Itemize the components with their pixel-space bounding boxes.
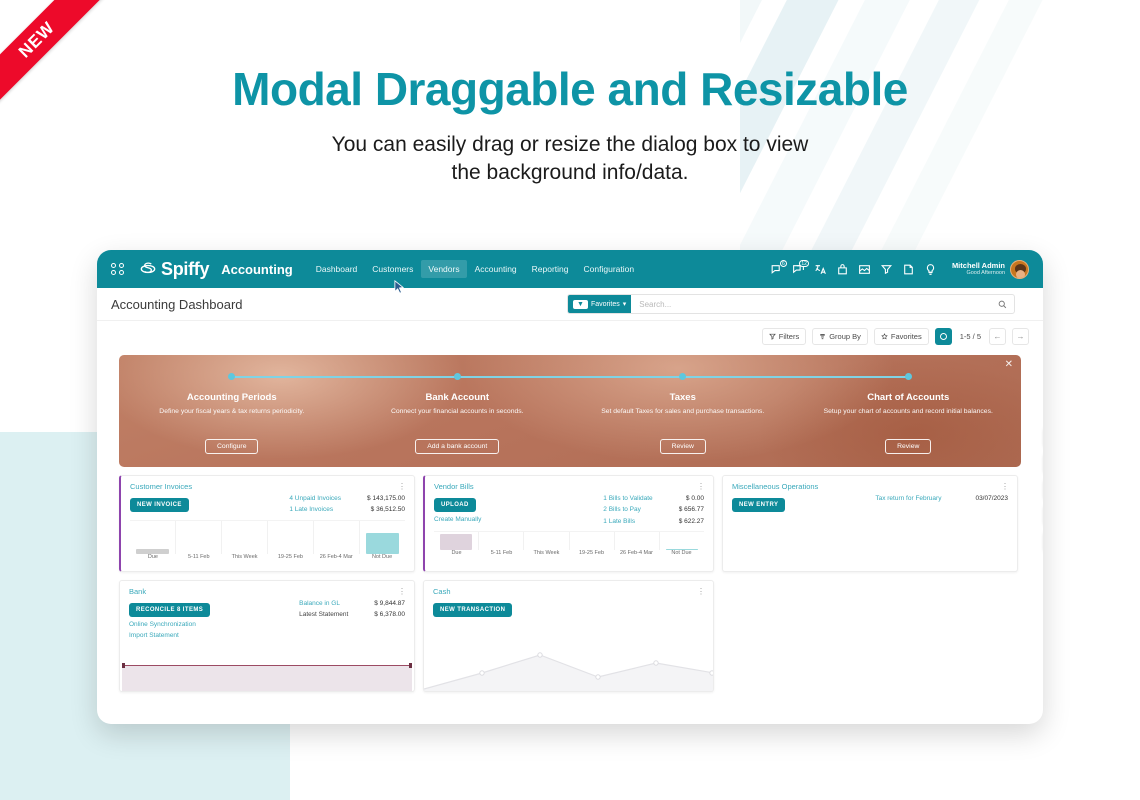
card-body: NEW TRANSACTION xyxy=(424,598,713,621)
axis-tick: Not Due xyxy=(359,554,405,560)
stat-label[interactable]: 4 Unpaid Invoices xyxy=(289,493,341,504)
search-bar[interactable]: ▼ Favorites ▾ Search... xyxy=(567,294,1015,314)
stat-label[interactable]: Tax return for February xyxy=(875,493,941,504)
dashboard-cards-row-1: Customer Invoices ⋮ NEW INVOICE 4 Unpaid… xyxy=(97,467,1043,572)
invoices-aging-chart xyxy=(130,520,405,554)
review-taxes-button[interactable]: Review xyxy=(660,439,706,454)
stat-values: 03/07/2023 xyxy=(975,493,1008,504)
favorites-label: Favorites xyxy=(891,332,922,341)
bills-aging-axis: Due 5-11 Feb This Week 19-25 Feb 26 Feb-… xyxy=(434,550,704,556)
step-dot xyxy=(228,373,235,380)
note-icon[interactable] xyxy=(902,263,915,276)
stat-value: $ 656.77 xyxy=(679,504,704,515)
step-dot xyxy=(905,373,912,380)
apps-grid-icon[interactable] xyxy=(111,263,124,276)
user-name: Mitchell Admin xyxy=(952,262,1005,271)
onboarding-step-bank-account: Bank Account Connect your financial acco… xyxy=(345,373,571,467)
gallery-icon[interactable] xyxy=(858,263,871,276)
spiffy-logo-icon xyxy=(138,259,158,279)
stat-label: Latest Statement xyxy=(299,609,348,620)
stat-labels: Balance in GL Latest Statement xyxy=(299,598,348,621)
kanban-view-icon xyxy=(939,332,948,341)
step-description: Setup your chart of accounts and record … xyxy=(806,407,1012,427)
search-favorites-label: Favorites xyxy=(591,301,620,308)
stat-label[interactable]: 1 Late Invoices xyxy=(289,504,341,515)
stat-values: $ 143,175.00 $ 36,512.50 xyxy=(367,493,405,516)
dashboard-cards-row-2: Bank ⋮ RECONCILE 8 ITEMS Online Synchron… xyxy=(97,572,1043,692)
axis-tick: Due xyxy=(434,550,479,556)
step-title: Bank Account xyxy=(355,392,561,403)
menu-item-vendors[interactable]: Vendors xyxy=(421,260,466,278)
card-vendor-bills: Vendor Bills ⋮ UPLOAD Create Manually 1 … xyxy=(423,475,714,572)
page-subtitle: You can easily drag or resize the dialog… xyxy=(0,131,1140,187)
bills-aging-chart xyxy=(434,531,704,550)
stat-value: $ 6,378.00 xyxy=(374,609,405,620)
subtitle-line-1: You can easily drag or resize the dialog… xyxy=(332,133,809,156)
bank-balance-chart xyxy=(122,665,412,691)
card-header: Bank ⋮ xyxy=(120,581,414,598)
onboarding-step-chart-of-accounts: Chart of Accounts Setup your chart of ac… xyxy=(796,373,1022,467)
stat-value: $ 36,512.50 xyxy=(367,504,405,515)
new-ribbon-label: NEW xyxy=(0,0,108,110)
translate-icon[interactable] xyxy=(814,263,827,276)
card-body: NEW ENTRY Tax return for February 03/07/… xyxy=(723,493,1017,516)
search-favorites-chip[interactable]: ▼ Favorites ▾ xyxy=(568,295,631,313)
step-description: Connect your financial accounts in secon… xyxy=(355,407,561,427)
search-icon[interactable] xyxy=(998,300,1014,309)
card-stats: Tax return for February 03/07/2023 xyxy=(875,493,1008,504)
onboarding-steps: Accounting Periods Define your fiscal ye… xyxy=(119,355,1021,467)
group-by-button[interactable]: Group By xyxy=(812,328,868,345)
conversations-icon[interactable]: 12 xyxy=(792,263,805,276)
stat-labels: 4 Unpaid Invoices 1 Late Invoices xyxy=(289,493,341,516)
onboarding-banner: ✕ Accounting Periods Define your fiscal … xyxy=(119,355,1021,467)
step-connector xyxy=(232,376,458,378)
poster-page: NEW Modal Draggable and Resizable You ca… xyxy=(0,0,1140,800)
shop-icon[interactable] xyxy=(836,263,849,276)
import-statement-link[interactable]: Import Statement xyxy=(129,632,210,639)
kebab-menu-icon[interactable]: ⋮ xyxy=(398,589,406,595)
configure-button[interactable]: Configure xyxy=(205,439,258,454)
menu-item-accounting[interactable]: Accounting xyxy=(468,260,524,278)
online-synchronization-link[interactable]: Online Synchronization xyxy=(129,621,210,628)
step-title: Taxes xyxy=(580,392,786,403)
upload-button[interactable]: UPLOAD xyxy=(434,498,476,512)
page-title: Modal Draggable and Resizable xyxy=(0,62,1140,116)
card-title: Customer Invoices xyxy=(130,482,192,491)
axis-tick: 19-25 Feb xyxy=(569,550,614,556)
view-toolbar: Filters Group By Favorites 1-5 / 5 ← → xyxy=(97,321,1043,351)
stat-label[interactable]: 1 Bills to Validate xyxy=(603,493,652,504)
kebab-menu-icon[interactable]: ⋮ xyxy=(697,484,705,490)
axis-tick: 26 Feb-4 Mar xyxy=(614,550,659,556)
card-header: Cash ⋮ xyxy=(424,581,713,598)
user-greeting: Good Afternoon xyxy=(952,270,1005,276)
app-name: Accounting xyxy=(221,262,293,277)
pager-next-button[interactable]: → xyxy=(1012,328,1029,345)
reconcile-items-button[interactable]: RECONCILE 8 ITEMS xyxy=(129,603,210,617)
main-menu: Dashboard Customers Vendors Accounting R… xyxy=(309,260,641,278)
messages-icon[interactable]: 6 xyxy=(770,263,783,276)
messages-badge: 6 xyxy=(780,260,787,267)
new-entry-button[interactable]: NEW ENTRY xyxy=(732,498,785,512)
step-title: Chart of Accounts xyxy=(806,392,1012,403)
brand-logo[interactable]: Spiffy xyxy=(138,259,209,280)
axis-tick: This Week xyxy=(524,550,569,556)
onboarding-step-taxes: Taxes Set default Taxes for sales and pu… xyxy=(570,373,796,467)
star-icon xyxy=(881,333,888,340)
card-miscellaneous-operations: Miscellaneous Operations ⋮ NEW ENTRY Tax… xyxy=(722,475,1018,572)
filters-label: Filters xyxy=(779,332,799,341)
menu-item-dashboard[interactable]: Dashboard xyxy=(309,260,365,278)
card-stats: 1 Bills to Validate 2 Bills to Pay 1 Lat… xyxy=(603,493,704,527)
brand-name: Spiffy xyxy=(161,259,209,280)
avatar[interactable] xyxy=(1010,260,1029,279)
user-names: Mitchell Admin Good Afternoon xyxy=(952,262,1005,277)
stat-value: $ 0.00 xyxy=(679,493,704,504)
kebab-menu-icon[interactable]: ⋮ xyxy=(398,484,406,490)
axis-tick: 26 Feb-4 Mar xyxy=(313,554,359,560)
mouse-cursor-icon xyxy=(394,280,404,294)
menu-item-customers[interactable]: Customers xyxy=(365,260,420,278)
step-title: Accounting Periods xyxy=(129,392,335,403)
kebab-menu-icon[interactable]: ⋮ xyxy=(1001,484,1009,490)
card-stats: Balance in GL Latest Statement $ 9,844.8… xyxy=(299,598,405,621)
card-body: RECONCILE 8 ITEMS Online Synchronization… xyxy=(120,598,414,643)
create-manually-link[interactable]: Create Manually xyxy=(434,516,481,523)
stat-label[interactable]: 2 Bills to Pay xyxy=(603,504,652,515)
menu-item-configuration[interactable]: Configuration xyxy=(577,260,642,278)
step-dot xyxy=(679,373,686,380)
stat-value: $ 622.27 xyxy=(679,516,704,527)
record-pager: 1-5 / 5 xyxy=(958,332,983,341)
group-by-label: Group By xyxy=(829,332,861,341)
new-transaction-button[interactable]: NEW TRANSACTION xyxy=(433,603,512,617)
card-body: NEW INVOICE 4 Unpaid Invoices 1 Late Inv… xyxy=(121,493,414,520)
stat-value: $ 9,844.87 xyxy=(374,598,405,609)
invoices-aging-axis: Due 5-11 Feb This Week 19-25 Feb 26 Feb-… xyxy=(130,554,405,560)
chevron-down-icon: ▾ xyxy=(623,300,627,308)
stat-values: $ 0.00 $ 656.77 $ 622.27 xyxy=(679,493,704,527)
step-connector xyxy=(457,376,683,378)
review-coa-button[interactable]: Review xyxy=(885,439,931,454)
axis-tick: 5-11 Feb xyxy=(176,554,222,560)
breadcrumb-row: Accounting Dashboard ▼ Favorites ▾ Searc… xyxy=(97,288,1043,321)
step-description: Set default Taxes for sales and purchase… xyxy=(580,407,786,427)
favorites-button[interactable]: Favorites xyxy=(874,328,929,345)
stat-label[interactable]: Balance in GL xyxy=(299,598,348,609)
top-navbar: Spiffy Accounting Dashboard Customers Ve… xyxy=(97,250,1043,288)
kebab-menu-icon[interactable]: ⋮ xyxy=(697,589,705,595)
card-customer-invoices: Customer Invoices ⋮ NEW INVOICE 4 Unpaid… xyxy=(119,475,415,572)
card-title: Vendor Bills xyxy=(434,482,474,491)
card-header: Vendor Bills ⋮ xyxy=(425,476,713,493)
breadcrumb: Accounting Dashboard xyxy=(111,297,243,312)
stat-value: 03/07/2023 xyxy=(975,493,1008,504)
lightbulb-icon[interactable] xyxy=(924,263,937,276)
step-description: Define your fiscal years & tax returns p… xyxy=(129,407,335,427)
add-bank-account-button[interactable]: Add a bank account xyxy=(415,439,499,454)
search-input[interactable]: Search... xyxy=(631,300,998,309)
subtitle-line-2: the background info/data. xyxy=(0,159,1140,187)
stat-labels: 1 Bills to Validate 2 Bills to Pay 1 Lat… xyxy=(603,493,652,527)
tag-icon[interactable] xyxy=(880,263,893,276)
new-ribbon: NEW xyxy=(0,0,110,110)
group-by-icon xyxy=(819,333,826,340)
axis-tick: This Week xyxy=(222,554,268,560)
filter-icon xyxy=(769,333,776,340)
filters-button[interactable]: Filters xyxy=(762,328,806,345)
card-title: Miscellaneous Operations xyxy=(732,482,818,491)
card-title: Bank xyxy=(129,587,146,596)
cash-balance-chart xyxy=(424,643,714,691)
step-connector xyxy=(683,376,909,378)
step-dot xyxy=(454,373,461,380)
axis-tick: 5-11 Feb xyxy=(479,550,524,556)
filter-funnel-icon: ▼ xyxy=(573,300,588,309)
axis-tick: Not Due xyxy=(659,550,704,556)
card-cash: Cash ⋮ NEW TRANSACTION xyxy=(423,580,714,692)
card-stats: 4 Unpaid Invoices 1 Late Invoices $ 143,… xyxy=(289,493,405,516)
user-menu[interactable]: Mitchell Admin Good Afternoon xyxy=(952,260,1029,279)
menu-item-reporting[interactable]: Reporting xyxy=(525,260,576,278)
stat-label[interactable]: 1 Late Bills xyxy=(603,516,652,527)
card-bank: Bank ⋮ RECONCILE 8 ITEMS Online Synchron… xyxy=(119,580,415,692)
pager-prev-button[interactable]: ← xyxy=(989,328,1006,345)
axis-tick: 19-25 Feb xyxy=(267,554,313,560)
close-icon[interactable]: ✕ xyxy=(1005,360,1013,370)
onboarding-step-accounting-periods: Accounting Periods Define your fiscal ye… xyxy=(119,373,345,467)
navbar-right-icons: 6 12 xyxy=(770,260,1033,279)
card-title: Cash xyxy=(433,587,451,596)
stat-labels: Tax return for February xyxy=(875,493,941,504)
stat-values: $ 9,844.87 $ 6,378.00 xyxy=(374,598,405,621)
new-invoice-button[interactable]: NEW INVOICE xyxy=(130,498,189,512)
axis-tick: Due xyxy=(130,554,176,560)
view-switch-button[interactable] xyxy=(935,328,952,345)
card-body: UPLOAD Create Manually 1 Bills to Valida… xyxy=(425,493,713,531)
stat-value: $ 143,175.00 xyxy=(367,493,405,504)
card-header: Miscellaneous Operations ⋮ xyxy=(723,476,1017,493)
app-window: Spiffy Accounting Dashboard Customers Ve… xyxy=(97,250,1043,724)
card-header: Customer Invoices ⋮ xyxy=(121,476,414,493)
conversations-badge: 12 xyxy=(799,260,809,267)
